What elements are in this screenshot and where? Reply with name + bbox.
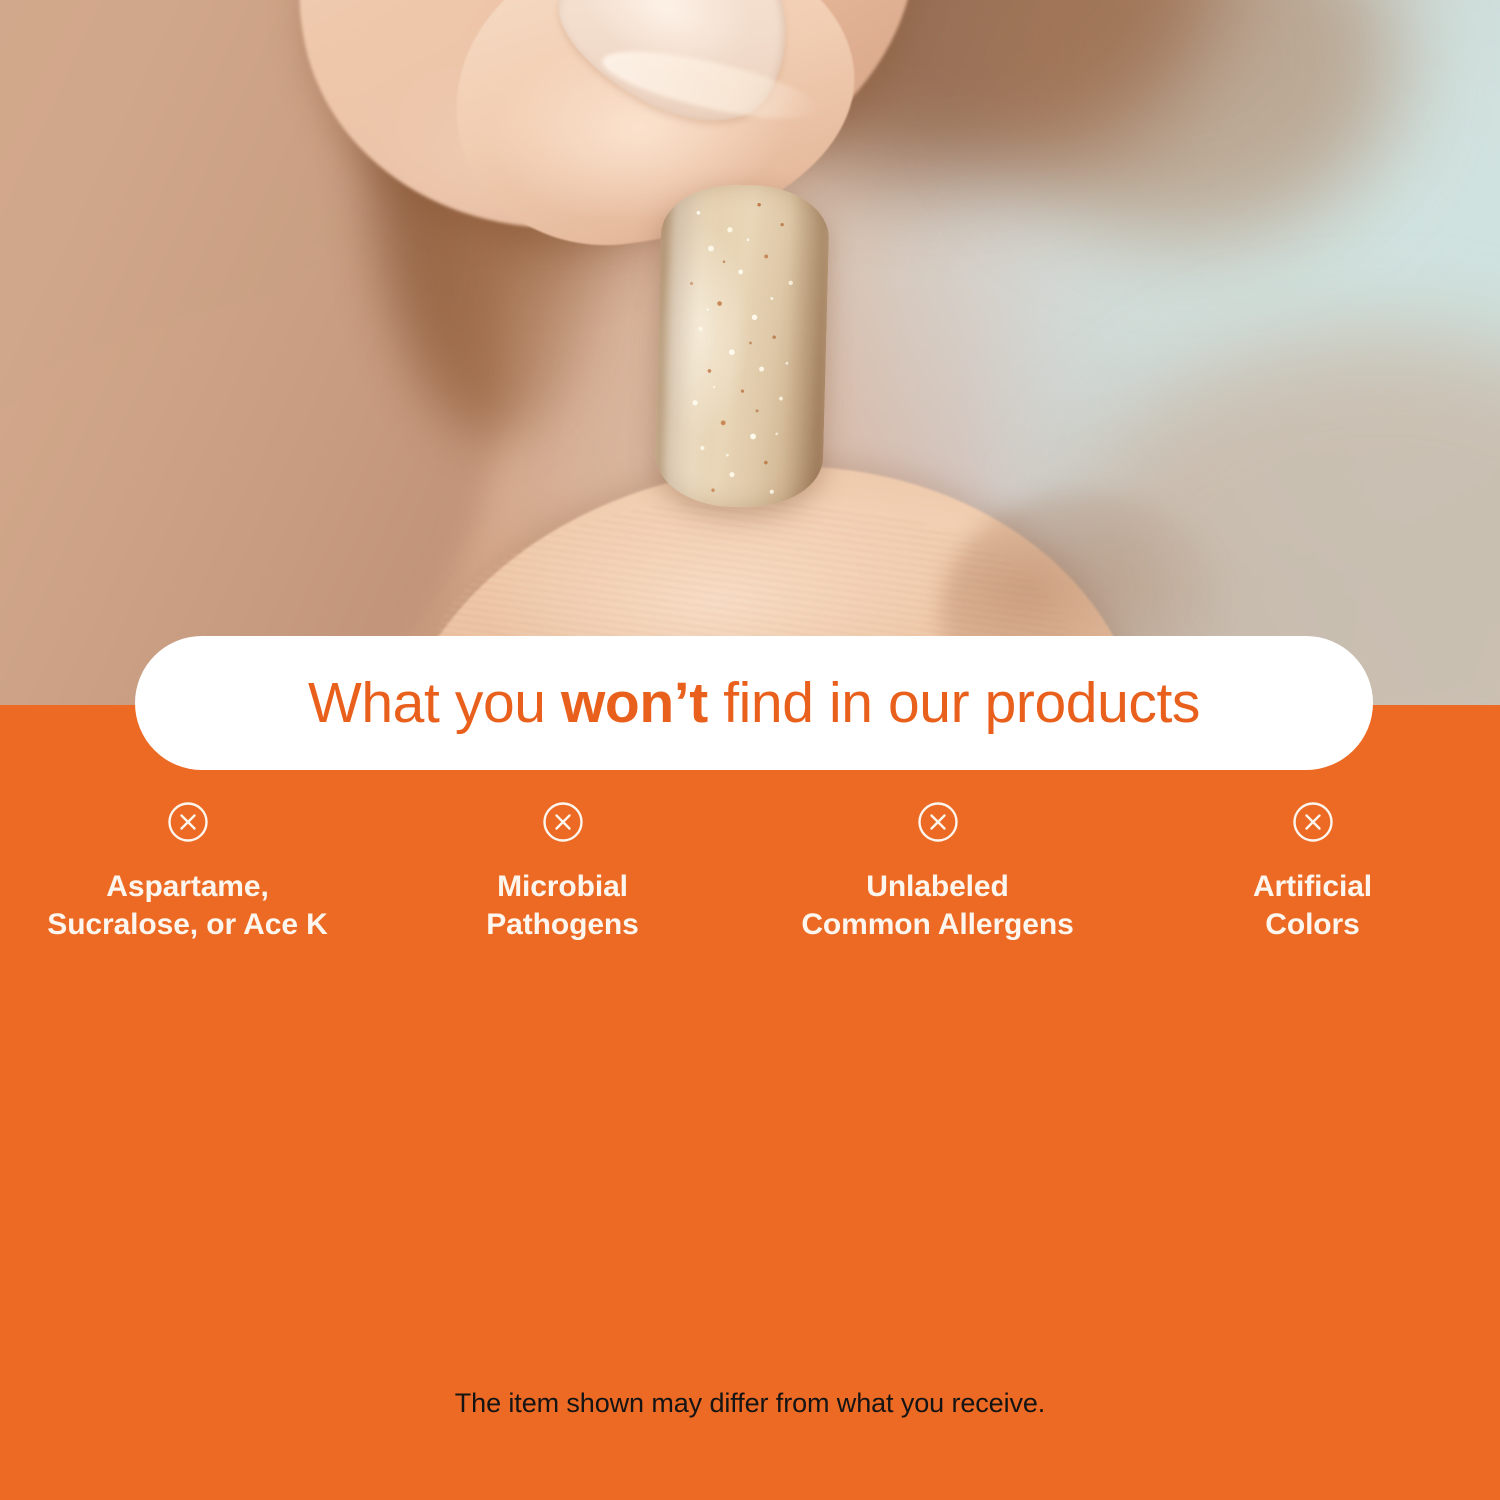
exclusion-item: ArtificialColors bbox=[1125, 800, 1500, 980]
circle-x-icon bbox=[166, 800, 210, 844]
tablet-right-edge bbox=[781, 186, 830, 509]
exclusion-item: Aspartame,Sucralose, or Ace K bbox=[0, 800, 375, 980]
headline-pill: What you won’t find in our products bbox=[135, 636, 1373, 770]
tablet-highlight bbox=[664, 183, 716, 506]
circle-x-icon bbox=[916, 800, 960, 844]
disclaimer-text: The item shown may differ from what you … bbox=[0, 1388, 1500, 1419]
headline-emphasis: won’t bbox=[561, 671, 708, 735]
exclusion-item: UnlabeledCommon Allergens bbox=[750, 800, 1125, 980]
exclusions-row: Aspartame,Sucralose, or Ace K MicrobialP… bbox=[0, 800, 1500, 1000]
circle-x-icon bbox=[1291, 800, 1335, 844]
page-title: What you won’t find in our products bbox=[308, 670, 1200, 736]
exclusion-label: Aspartame,Sucralose, or Ace K bbox=[47, 868, 327, 944]
exclusion-label: UnlabeledCommon Allergens bbox=[801, 868, 1073, 944]
exclusion-label: MicrobialPathogens bbox=[486, 868, 638, 944]
hero-photo bbox=[0, 0, 1500, 705]
headline-part-before: What you bbox=[308, 671, 561, 735]
product-claims-infographic: What you won’t find in our products Aspa… bbox=[0, 0, 1500, 1500]
exclusion-label: ArtificialColors bbox=[1253, 868, 1372, 944]
exclusion-item: MicrobialPathogens bbox=[375, 800, 750, 980]
exclusions-grid: Aspartame,Sucralose, or Ace K MicrobialP… bbox=[0, 800, 1500, 1000]
headline-part-after: find in our products bbox=[708, 671, 1200, 735]
supplement-tablet bbox=[654, 183, 830, 509]
circle-x-icon bbox=[541, 800, 585, 844]
